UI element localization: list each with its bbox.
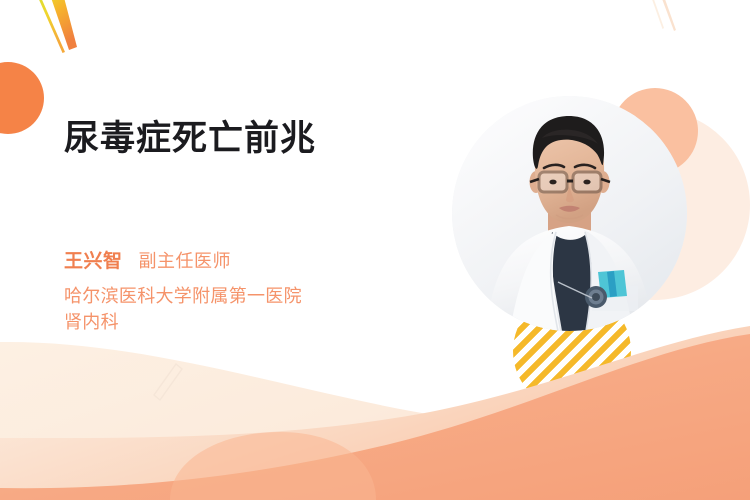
faint-diagonal-strokes-icon bbox=[630, 0, 700, 44]
doctor-portrait bbox=[452, 96, 687, 331]
outlined-bar-decor bbox=[146, 362, 192, 404]
doctor-name-row: 王兴智 副主任医师 bbox=[64, 246, 424, 273]
doctor-name: 王兴智 bbox=[64, 246, 123, 273]
doctor-professional-title: 副主任医师 bbox=[139, 247, 232, 273]
page-title: 尿毒症死亡前兆 bbox=[64, 118, 424, 159]
doctor-info-block: 王兴智 副主任医师 哈尔滨医科大学附属第一医院 肾内科 bbox=[64, 246, 424, 335]
promo-card: 尿毒症死亡前兆 王兴智 副主任医师 哈尔滨医科大学附属第一医院 肾内科 bbox=[0, 0, 750, 500]
bottom-waves-decor bbox=[0, 320, 750, 500]
title-block: 尿毒症死亡前兆 bbox=[64, 118, 424, 159]
doctor-department: 肾内科 bbox=[64, 310, 424, 336]
orange-circle-decor bbox=[0, 62, 44, 134]
diagonal-strokes-icon bbox=[0, 0, 140, 80]
doctor-hospital: 哈尔滨医科大学附属第一医院 bbox=[64, 284, 424, 310]
